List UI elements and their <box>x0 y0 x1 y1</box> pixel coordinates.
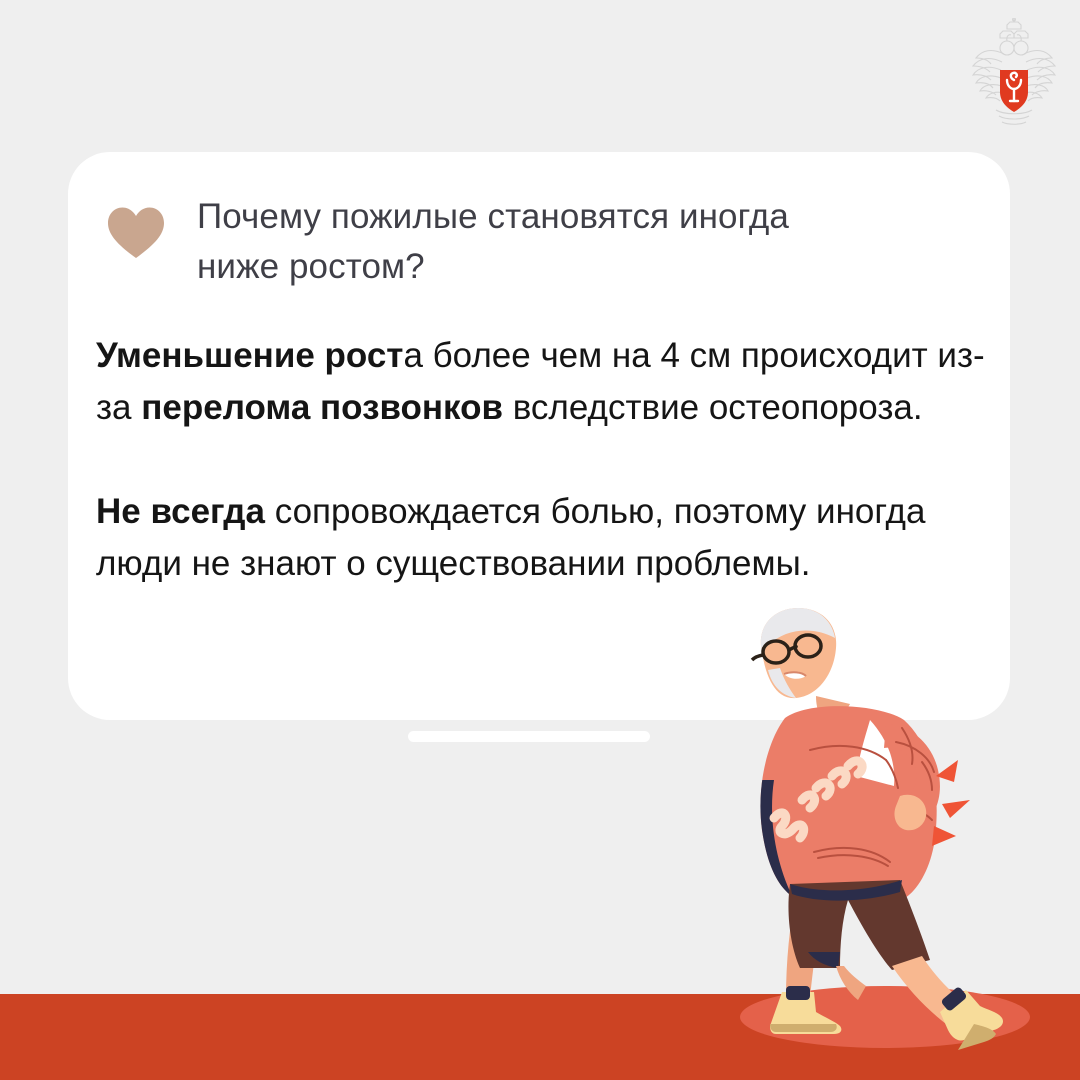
card-heading-row: Почему пожилые становятся иногда ниже ро… <box>105 192 970 291</box>
paragraph-1: Уменьшение роста более чем на 4 см проис… <box>96 330 1000 434</box>
carousel-progress-indicator[interactable] <box>408 731 650 742</box>
elderly-man-with-back-pain-illustration <box>690 600 1080 1080</box>
russian-ministry-of-health-emblem <box>966 18 1062 128</box>
heart-icon <box>105 202 167 264</box>
card-body-text: Уменьшение роста более чем на 4 см проис… <box>96 330 1000 591</box>
paragraph-2: Не всегда сопровождается болью, поэтому … <box>96 486 1000 590</box>
page-title: Почему пожилые становятся иногда ниже ро… <box>197 192 817 291</box>
infographic-slide: Почему пожилые становятся иногда ниже ро… <box>0 0 1080 1080</box>
